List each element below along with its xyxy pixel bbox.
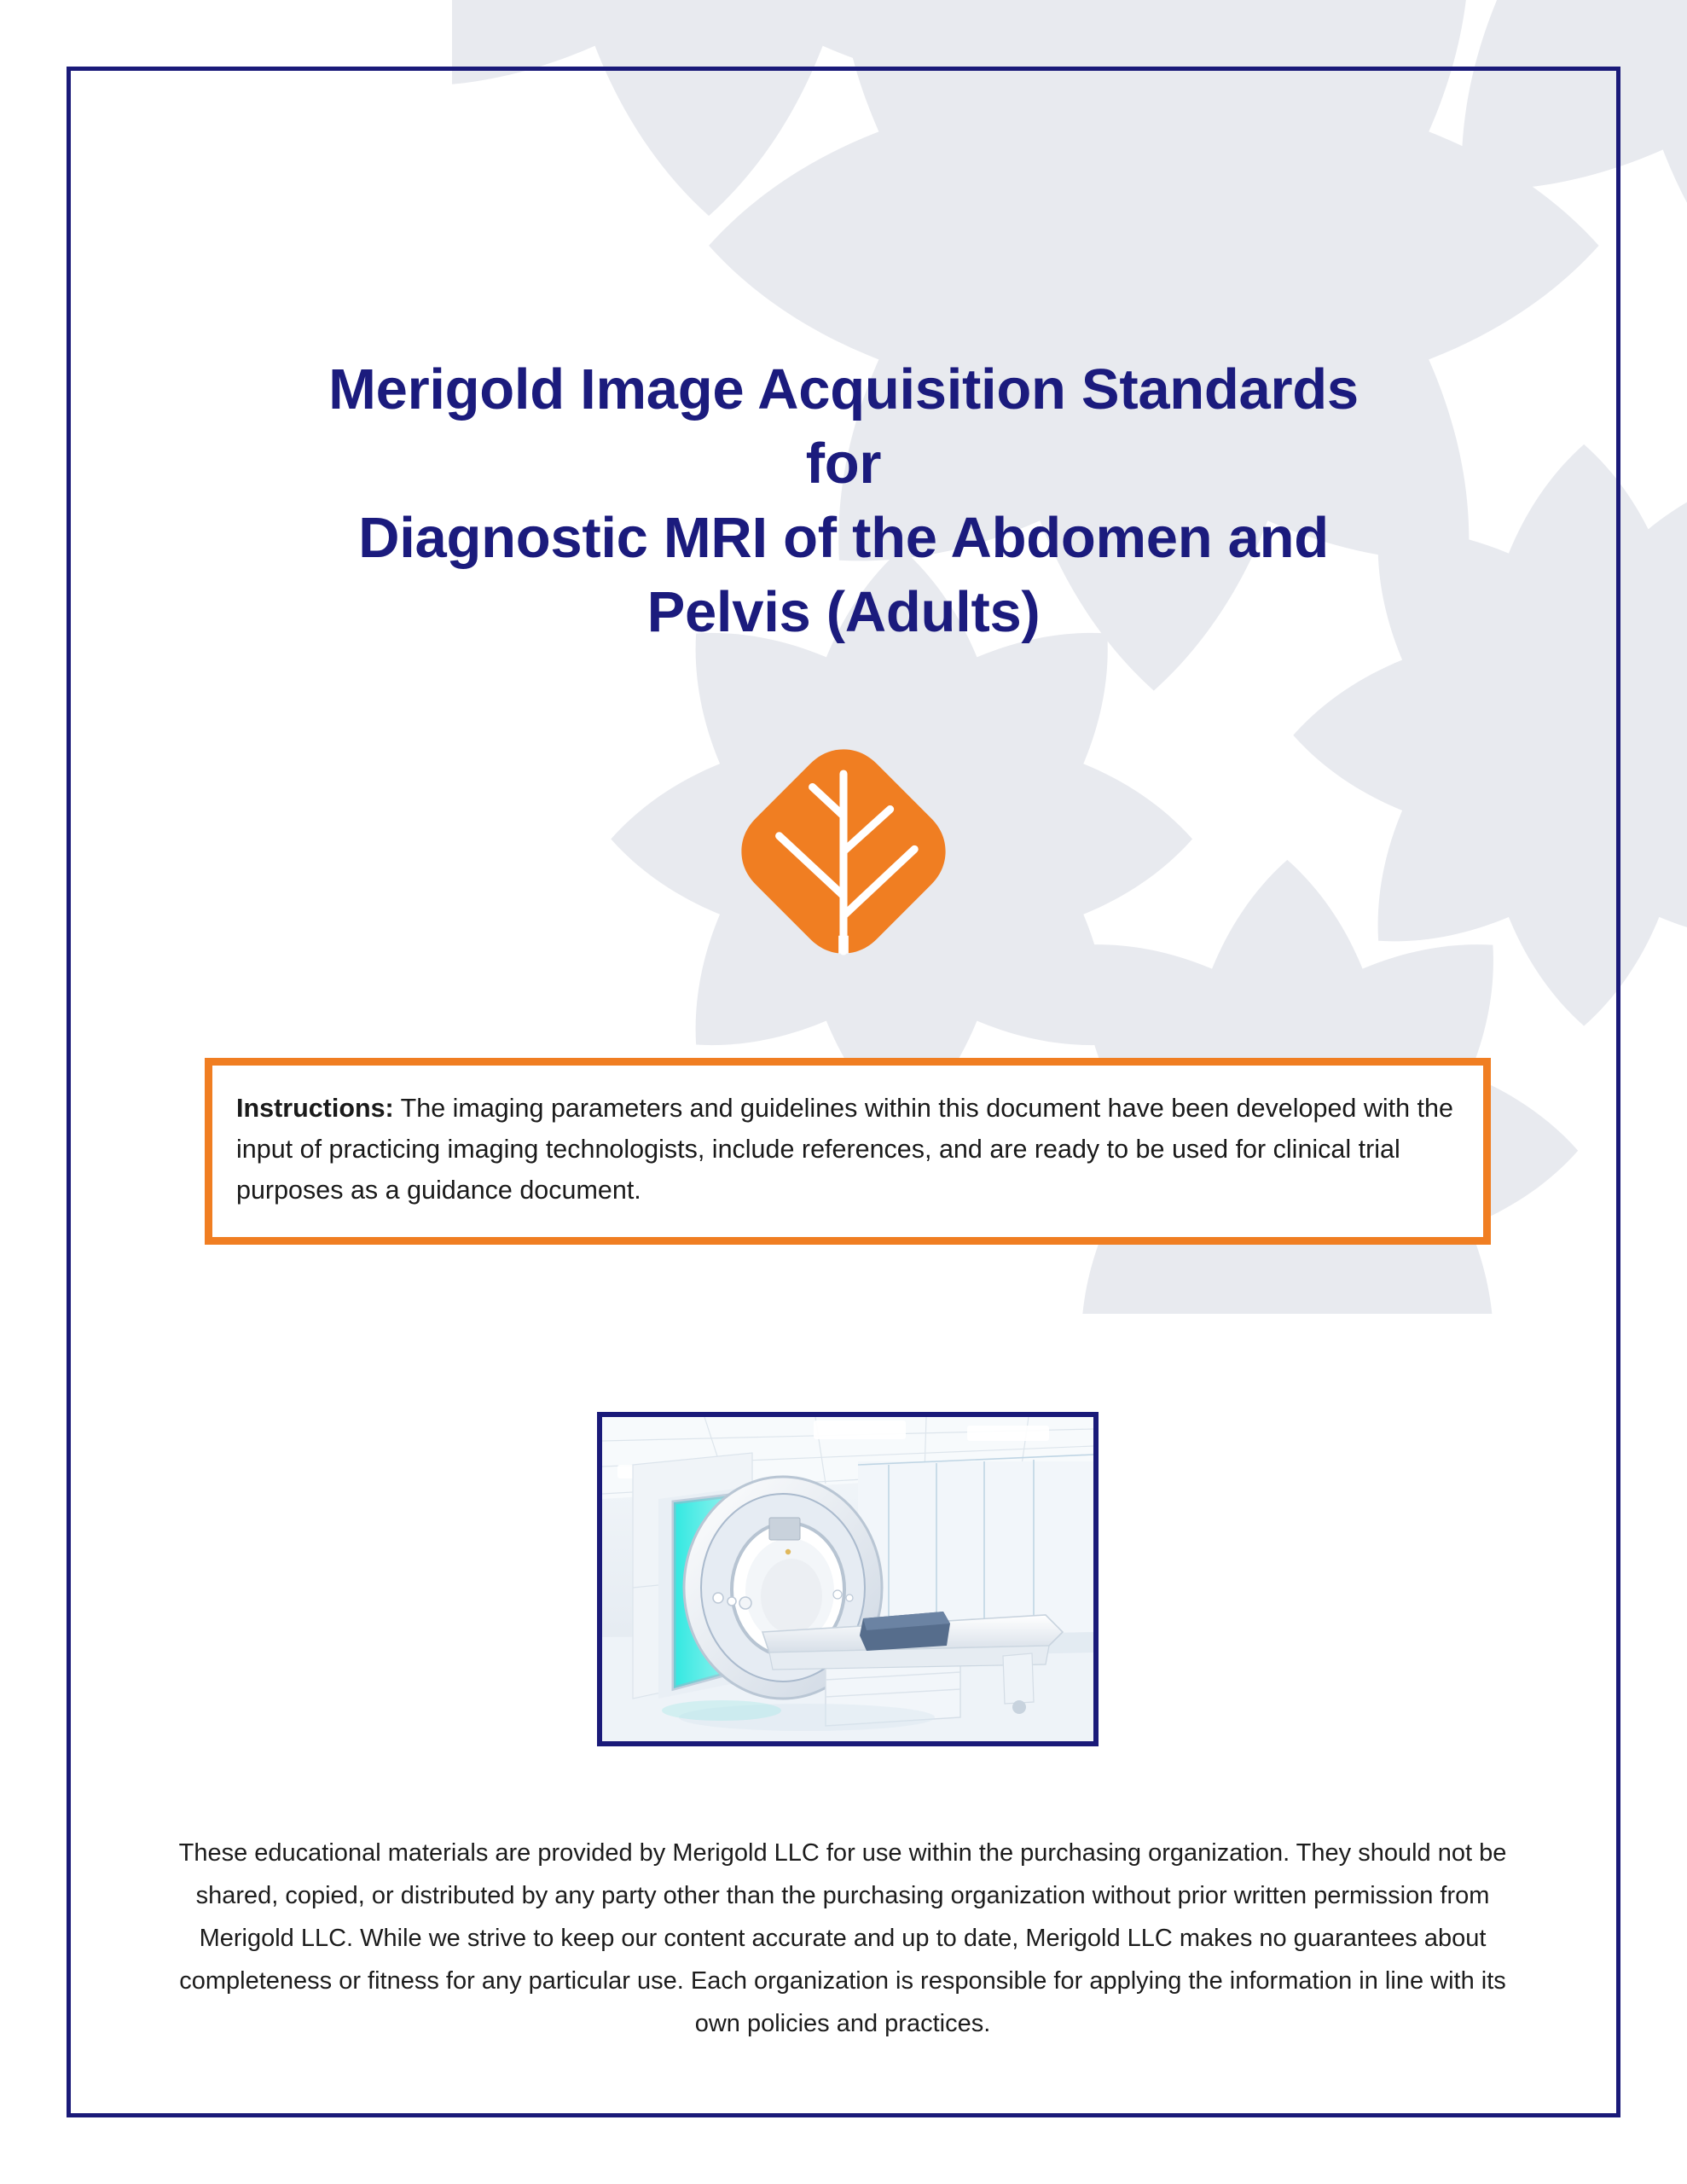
instructions-body: The imaging parameters and guidelines wi… <box>236 1094 1453 1205</box>
page-title: Merigold Image Acquisition Standards for… <box>152 352 1535 649</box>
page-title-line-4: Pelvis (Adults) <box>152 575 1535 649</box>
tree-leaf-logo-icon <box>733 741 954 962</box>
page-title-line-3: Diagnostic MRI of the Abdomen and <box>152 501 1535 575</box>
instructions-text: Instructions: The imaging parameters and… <box>236 1088 1459 1211</box>
page-content: Merigold Image Acquisition Standards for… <box>67 67 1620 2117</box>
instructions-label: Instructions: <box>236 1094 394 1123</box>
disclaimer-text: These educational materials are provided… <box>160 1833 1525 2045</box>
instructions-callout: Instructions: The imaging parameters and… <box>205 1058 1491 1245</box>
brand-logo <box>67 741 1620 962</box>
mri-scanner-illustration <box>602 1417 1093 1741</box>
mri-scanner-photo <box>597 1412 1099 1746</box>
page-title-line-2: for <box>152 427 1535 501</box>
page-title-line-1: Merigold Image Acquisition Standards <box>152 352 1535 427</box>
